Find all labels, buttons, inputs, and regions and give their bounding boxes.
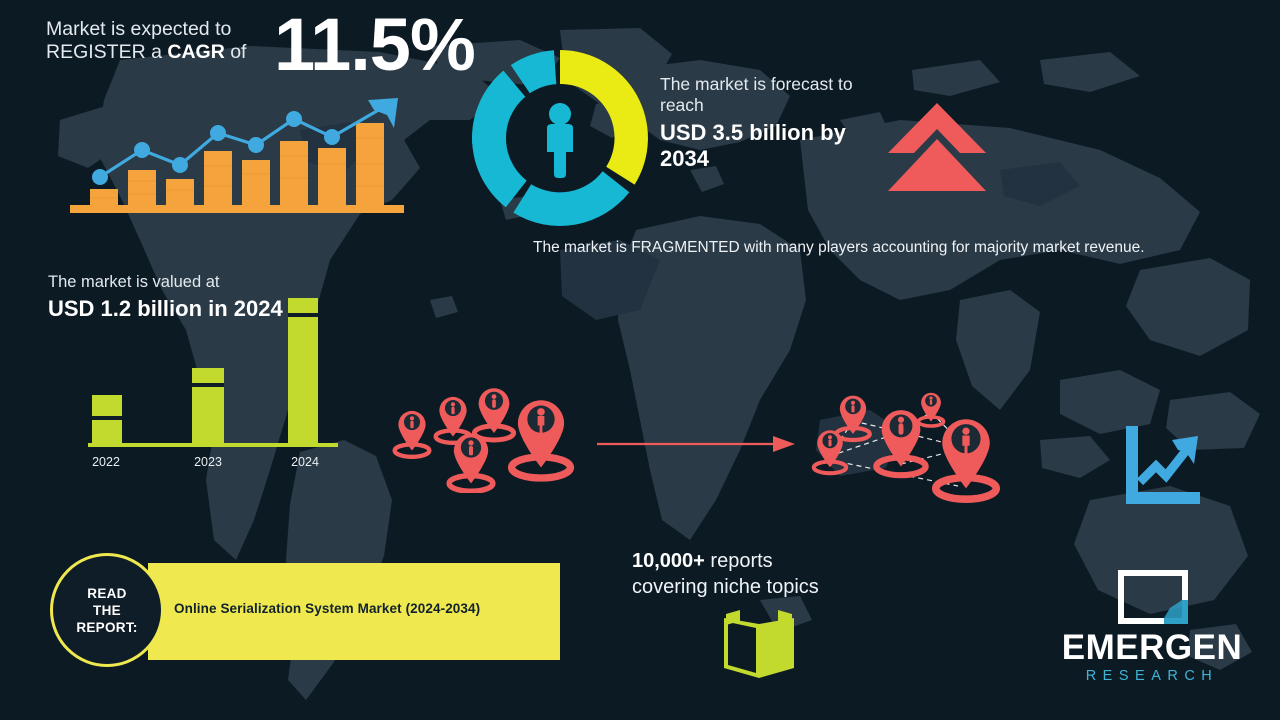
cagr-label-line2-pre: REGISTER a [46, 41, 167, 63]
bar-chart-baseline [88, 443, 338, 447]
donut-slice-cyan-3 [472, 71, 525, 145]
read-report-banner[interactable]: Online Serialization System Market (2024… [148, 563, 560, 660]
reports-count: 10,000+ [632, 550, 705, 572]
cagr-block: Market is expected to REGISTER a CAGR of… [46, 18, 466, 64]
reports-line1-rest: reports [705, 550, 773, 572]
map-pin-cluster-right [806, 388, 1021, 506]
cagr-label-line1: Market is expected to [46, 18, 231, 40]
read-the-report-label: READTHEREPORT: [76, 585, 137, 636]
logo-name: EMERGEN [1056, 629, 1248, 667]
person-icon [547, 103, 573, 178]
infographic-canvas: Market is expected to REGISTER a CAGR of… [0, 0, 1280, 720]
bar-label-2024: 2024 [282, 455, 328, 469]
market-share-donut [470, 48, 650, 228]
reports-line2: covering niche topics [632, 574, 932, 600]
double-chevron-up-icon [882, 97, 992, 195]
open-book-icon [718, 608, 800, 680]
cagr-label-bold: CAGR [167, 41, 224, 63]
right-arrow-icon [595, 432, 800, 456]
growth-trend-chart [62, 86, 414, 221]
donut-slice-cyan-4 [511, 50, 557, 93]
fragmented-text: The market is FRAGMENTED with many playe… [533, 236, 1223, 260]
map-pin-person-icon [395, 411, 430, 457]
cagr-value: 11.5% [274, 8, 475, 82]
reports-line1: 10,000+ reports [632, 548, 932, 574]
growth-baseline [70, 205, 404, 213]
cagr-label-line2-post: of [225, 41, 247, 63]
growth-chart-icon [1122, 424, 1204, 508]
forecast-value: USD 3.5 billion by 2034 [660, 120, 900, 172]
donut-slice-yellow [560, 50, 648, 185]
bar-2023 [192, 368, 224, 443]
donut-slice-cyan-2 [472, 135, 527, 207]
valued-label: The market is valued at [48, 272, 308, 292]
market-value-bar-chart [70, 290, 340, 450]
forecast-block: The market is forecast to reach USD 3.5 … [660, 74, 900, 172]
map-pin-person-icon [474, 388, 513, 440]
map-pin-cluster-left [385, 388, 580, 493]
map-pin-person-icon [936, 419, 996, 499]
bar-label-2023: 2023 [185, 455, 231, 469]
map-pin-person-icon [836, 396, 870, 440]
bar-label-2022: 2022 [83, 455, 129, 469]
forecast-label: The market is forecast to reach [660, 74, 900, 116]
read-the-report-button[interactable]: READTHEREPORT: [50, 553, 164, 667]
logo-mark-icon [1118, 570, 1188, 630]
map-pin-person-icon [512, 400, 571, 478]
logo-subtitle: RESEARCH [1056, 668, 1248, 684]
cagr-label: Market is expected to REGISTER a CAGR of [46, 18, 261, 64]
market-value-bars [92, 298, 318, 443]
emergen-research-logo: EMERGEN RESEARCH [1056, 572, 1248, 694]
bar-2024 [288, 298, 318, 443]
report-title: Online Serialization System Market (2024… [174, 601, 480, 616]
reports-count-block: 10,000+ reports covering niche topics [632, 548, 932, 600]
donut-slice-cyan-1 [513, 171, 629, 226]
